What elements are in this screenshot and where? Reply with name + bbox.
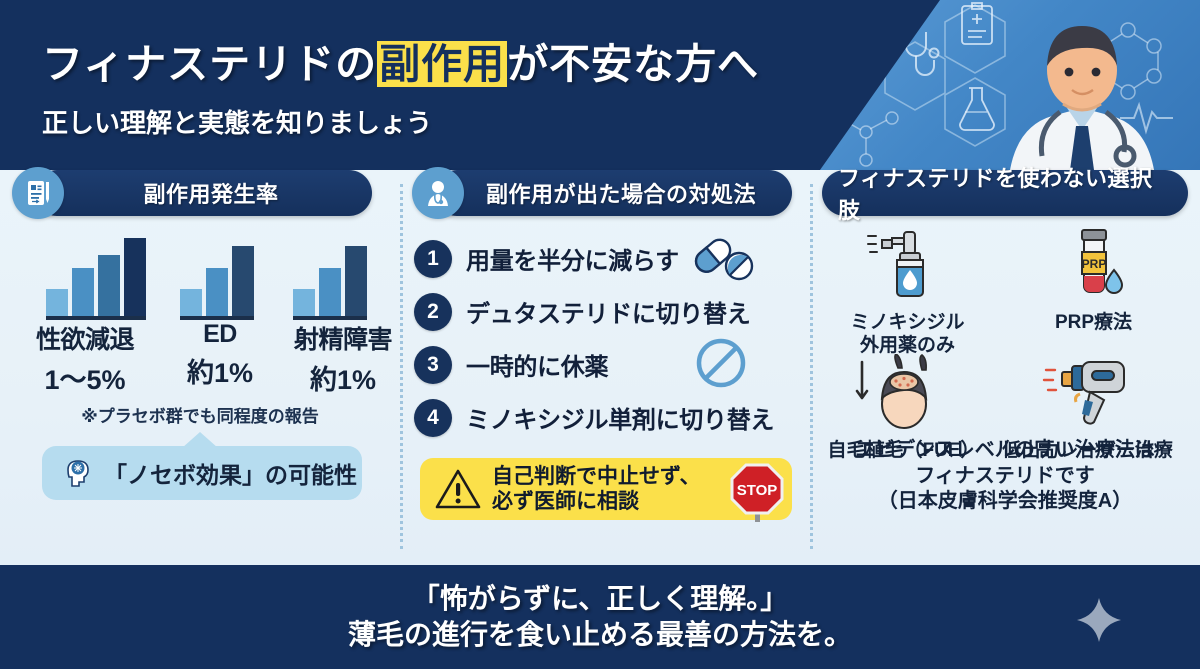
page-header: フィナステリドの副作用が不安な方へ 正しい理解と実態を知りましょう xyxy=(0,0,1200,170)
bar xyxy=(180,289,202,316)
bar xyxy=(345,246,367,316)
panel-countermeasures: 副作用が出た場合の対処法 1 用量を半分に減らす xyxy=(400,170,810,565)
step-number: 4 xyxy=(414,399,452,437)
warning-callout: 自己判断で中止せず、 必ず医師に相談 STOP xyxy=(420,458,792,520)
no-entry-icon xyxy=(692,334,750,397)
list-item[interactable]: 4 ミノキシジル単剤に切り替え xyxy=(414,391,810,444)
step-text: デュタステリドに切り替え xyxy=(466,294,750,329)
chart-label-1: ED 約1% xyxy=(150,320,290,390)
bar xyxy=(124,238,146,316)
bar-group-2 xyxy=(293,238,367,320)
title-part-2: が不安な方へ xyxy=(507,41,759,87)
hair-transplant-icon xyxy=(848,354,960,430)
footer-line-1: 「怖がらずに、正しく理解。」 xyxy=(348,581,852,617)
page-title: フィナステリドの副作用が不安な方へ xyxy=(42,30,759,90)
alternative-option[interactable]: PRP PRP療法 xyxy=(1006,226,1181,334)
laser-device-icon xyxy=(1032,354,1144,430)
step-text: 用量を半分に減らす xyxy=(466,241,679,276)
footer-text: 「怖がらずに、正しく理解。」 薄毛の進行を食い止める最善の方法を。 xyxy=(348,581,852,654)
chart-label-2: 射精障害 約1% xyxy=(273,320,413,397)
caption-line-1: ミノキシジル xyxy=(820,311,995,334)
bar xyxy=(72,268,94,316)
footer-line-2: 薄毛の進行を食い止める最善の方法を。 xyxy=(348,617,852,653)
step-text: 一時的に休薬 xyxy=(466,347,608,382)
panel-1-header: 副作用発生率 xyxy=(0,170,400,216)
panel-1-title: 副作用発生率 xyxy=(109,177,296,209)
panel-3-header: フィナステリドを使わない選択肢 xyxy=(810,170,1200,216)
step-text: ミノキシジル単剤に切り替え xyxy=(466,400,774,435)
content-area: 副作用発生率 xyxy=(0,170,1200,565)
header-text-block: フィナステリドの副作用が不安な方へ 正しい理解と実態を知りましょう xyxy=(42,30,759,140)
panel-3-title: フィナステリドを使わない選択肢 xyxy=(822,161,1188,225)
alternative-option[interactable]: ミノキシジル 外用薬のみ xyxy=(820,226,995,357)
bar-group-0 xyxy=(46,238,146,320)
value-label: 1〜5% xyxy=(15,358,155,397)
list-item[interactable]: 2 デュタステリドに切り替え xyxy=(414,285,810,338)
alternatives-grid: ミノキシジル 外用薬のみ PRP PRP療法 xyxy=(810,226,1200,436)
category-label: ED xyxy=(150,320,290,349)
sparkle-icon xyxy=(1076,597,1122,648)
page-footer: 「怖がらずに、正しく理解。」 薄毛の進行を食い止める最善の方法を。 xyxy=(0,565,1200,669)
panel-2-header: 副作用が出た場合の対処法 xyxy=(400,170,810,216)
bar xyxy=(206,268,228,316)
panel-1-title-pill: 副作用発生率 xyxy=(34,170,372,216)
warning-text: 自己判断で中止せず、 必ず医師に相談 xyxy=(492,464,701,514)
warning-line-2: 必ず医師に相談 xyxy=(492,489,701,514)
alternative-caption: PRP療法 xyxy=(1006,311,1181,334)
bar xyxy=(232,246,254,316)
category-label: 性欲減退 xyxy=(15,320,155,356)
stop-label: STOP xyxy=(737,482,778,499)
value-label: 約1% xyxy=(150,351,290,390)
side-effect-bar-chart xyxy=(0,228,400,320)
bar-group-1 xyxy=(180,238,254,320)
doctor-avatar-icon xyxy=(412,167,464,219)
pills-icon xyxy=(686,234,756,289)
bar xyxy=(98,255,120,316)
alternative-caption: ミノキシジル 外用薬のみ xyxy=(820,311,995,357)
bar xyxy=(293,289,315,316)
countermeasure-list: 1 用量を半分に減らす xyxy=(414,232,810,444)
value-label: 約1% xyxy=(273,358,413,397)
evidence-line-1: エビデンスレベルの高い治療法は xyxy=(810,438,1200,464)
list-item[interactable]: 3 一時的に休薬 xyxy=(414,338,810,391)
panel-3-title-pill: フィナステリドを使わない選択肢 xyxy=(822,170,1188,216)
stop-sign-icon: STOP xyxy=(728,462,786,527)
category-label: 射精障害 xyxy=(273,320,413,356)
report-document-icon xyxy=(12,167,64,219)
step-number: 3 xyxy=(414,346,452,384)
warning-line-1: 自己判断で中止せず、 xyxy=(492,464,701,489)
chart-label-0: 性欲減退 1〜5% xyxy=(15,320,155,397)
chart-labels: 性欲減退 1〜5% ED 約1% 射精障害 約1% xyxy=(0,320,400,398)
nocebo-label: 「ノセボ効果」の可能性 xyxy=(104,456,357,490)
evidence-line-3: （日本皮膚科学会推奨度A） xyxy=(810,489,1200,515)
page-subtitle: 正しい理解と実態を知りましょう xyxy=(42,103,759,140)
caption-line-1: PRP療法 xyxy=(1006,311,1181,334)
evidence-note: エビデンスレベルの高い治療法は フィナステリドです （日本皮膚科学会推奨度A） xyxy=(810,438,1200,515)
header-illustration xyxy=(820,0,1200,170)
spray-bottle-icon xyxy=(860,226,956,302)
bar xyxy=(46,289,68,316)
step-number: 2 xyxy=(414,293,452,331)
placebo-note: ※プラセボ群でも同程度の報告 xyxy=(0,402,400,427)
vial-label: PRP xyxy=(1081,257,1106,271)
prp-vial-icon: PRP xyxy=(1046,226,1142,302)
panel-side-effect-rate: 副作用発生率 xyxy=(0,170,400,565)
nocebo-callout: 「ノセボ効果」の可能性 xyxy=(42,446,362,500)
panel-2-title: 副作用が出た場合の対処法 xyxy=(452,177,774,209)
infographic-page: フィナステリドの副作用が不安な方へ 正しい理解と実態を知りましょう xyxy=(0,0,1200,669)
warning-triangle-icon xyxy=(434,467,482,511)
title-highlight: 副作用 xyxy=(377,41,507,87)
brain-head-icon xyxy=(60,456,94,490)
panel-alternatives: フィナステリドを使わない選択肢 xyxy=(810,170,1200,565)
panel-2-title-pill: 副作用が出た場合の対処法 xyxy=(434,170,792,216)
list-item[interactable]: 1 用量を半分に減らす xyxy=(414,232,810,285)
evidence-line-2: フィナステリドです xyxy=(810,464,1200,490)
bar xyxy=(319,268,341,316)
title-part-1: フィナステリドの xyxy=(42,41,377,87)
step-number: 1 xyxy=(414,240,452,278)
